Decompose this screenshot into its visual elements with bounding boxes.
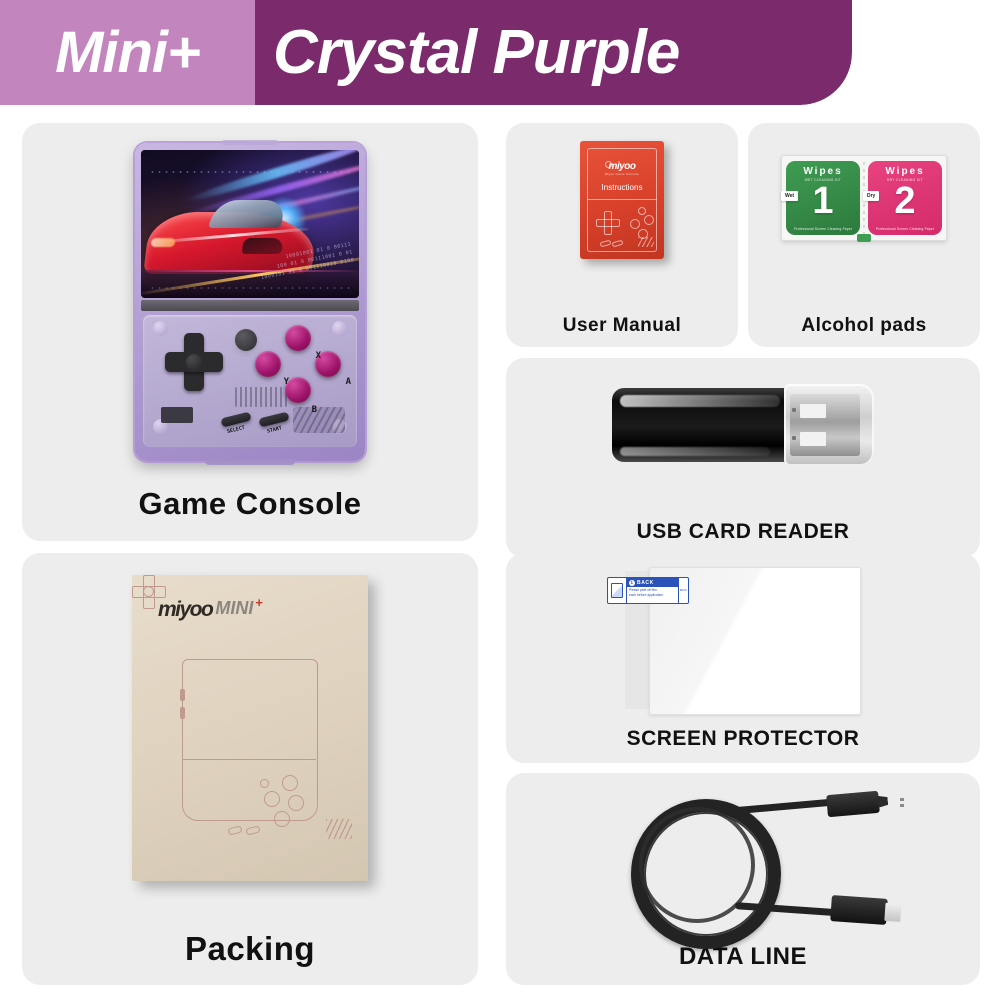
- pcb-chip: [161, 407, 193, 423]
- banner-right-block: Crystal Purple: [255, 0, 852, 105]
- card-screen-protector[interactable]: 1 BACK Please peel off film each before …: [506, 553, 980, 763]
- sachet-wet-tab: Wet: [781, 191, 798, 201]
- peel-step-number: 1: [629, 580, 635, 586]
- speaker-grille: [293, 407, 345, 433]
- product-contents-grid: 10001001 01 0 00111 100 01 0 00111001 0 …: [0, 105, 1000, 1000]
- protector-peel-tag: 1 BACK Please peel off film each before …: [607, 577, 689, 604]
- sachet-dry-number: 2: [894, 184, 915, 219]
- card-user-manual[interactable]: miyoo Miyoo Game Console Instructions Us…: [506, 123, 738, 347]
- usb-contact-slot-1: [800, 404, 826, 418]
- packing-side-button-1: [180, 689, 185, 701]
- select-button[interactable]: [220, 412, 251, 428]
- button-y[interactable]: [255, 351, 281, 377]
- pcb-traces: [235, 387, 287, 407]
- console-top-nub: [222, 140, 278, 145]
- usb-pin-1: [792, 408, 796, 412]
- label-usb-card-reader: USB CARD READER: [506, 521, 980, 542]
- packing-select-outline: [227, 825, 242, 835]
- manual-speaker-outline: [638, 237, 654, 247]
- sachet-wet-footer: Professional Screen Cleaning Paper: [786, 227, 860, 231]
- data-line-cable: [593, 791, 893, 931]
- dpad-center: [186, 354, 202, 370]
- header-banner: Mini+ Crystal Purple: [0, 0, 852, 105]
- usb-gloss-top: [620, 395, 780, 407]
- console-screen: 10001001 01 0 00111 100 01 0 00111001 0 …: [141, 150, 359, 298]
- button-x[interactable]: [285, 325, 311, 351]
- button-y-label: Y: [284, 377, 289, 387]
- manual-button-outline-2: [644, 215, 654, 225]
- screen-dot-row-top: [149, 170, 351, 174]
- banner-left-block: Mini+: [0, 0, 255, 105]
- peel-tag-body: 1 BACK Please peel off film each before …: [627, 578, 678, 603]
- banner-model-text: Mini+: [55, 24, 200, 82]
- user-manual-booklet: miyoo Miyoo Game Console Instructions: [580, 141, 664, 259]
- button-b-label: B: [312, 405, 317, 415]
- manual-stick-outline: [605, 161, 612, 168]
- cable-lead-top: [735, 799, 831, 814]
- sachet-dry-tab: Dry: [863, 191, 879, 201]
- peel-tag-heading-text: BACK: [637, 580, 654, 586]
- analog-stick[interactable]: [235, 329, 257, 351]
- card-packing[interactable]: miyoo MINI + Packing: [22, 553, 478, 985]
- packing-button-outline-y: [264, 791, 280, 807]
- packing-screen-divider: [182, 759, 316, 760]
- label-game-console: Game Console: [22, 488, 478, 519]
- packing-button-outline-x: [282, 775, 298, 791]
- label-alcohol-pads: Alcohol pads: [748, 316, 980, 335]
- usb-body: [612, 388, 792, 462]
- car-highlight-stripe: [157, 227, 308, 243]
- packing-speaker-outline: [326, 819, 352, 839]
- sachet-dry-title: Wipes: [885, 166, 924, 177]
- manual-button-outline-1: [638, 207, 646, 215]
- manual-title: Instructions: [580, 183, 664, 192]
- start-button-label: START: [266, 425, 282, 434]
- usb-a-contacts: [900, 798, 904, 810]
- manual-divider: [587, 199, 657, 200]
- console-bottom-edge: [205, 459, 295, 465]
- select-button-label: SELECT: [227, 425, 246, 435]
- screw-top-right: [332, 321, 347, 336]
- label-screen-protector: SCREEN PROTECTOR: [506, 728, 980, 749]
- label-packing: Packing: [22, 932, 478, 965]
- peel-tag-heading: 1 BACK: [627, 578, 678, 587]
- screen-dot-row-bottom: [149, 286, 351, 290]
- manual-button-outline-3: [630, 219, 640, 229]
- packing-brand-plus: +: [255, 596, 263, 609]
- card-game-console[interactable]: 10001001 01 0 00111 100 01 0 00111001 0 …: [22, 123, 478, 541]
- packing-button-outline-b: [274, 811, 290, 827]
- console-control-face: X Y A B SELECT START: [143, 315, 357, 447]
- sachet-dry-footer: Professional Screen Cleaning Paper: [868, 227, 942, 231]
- packing-dpad-center: [143, 586, 154, 597]
- car-headlight: [151, 238, 176, 247]
- card-alcohol-pads[interactable]: Wipes WET CLEANING KIT 1 Professional Sc…: [748, 123, 980, 347]
- peel-instruction-line-2: each before application: [629, 593, 676, 598]
- sachet-wet: Wipes WET CLEANING KIT 1 Professional Sc…: [786, 161, 860, 235]
- micro-usb-connector: [826, 791, 880, 817]
- usb-a-connector: [830, 895, 888, 925]
- label-user-manual: User Manual: [506, 316, 738, 335]
- manual-brand-logo: miyoo: [580, 161, 664, 172]
- sachet-dry: Wipes DRY CLEANING KIT 2 Professional Sc…: [868, 161, 942, 235]
- sachet-dry-subtitle: DRY CLEANING KIT: [887, 178, 923, 182]
- usb-contact-slot-2: [800, 432, 826, 446]
- packing-brand-logo: miyoo MINI +: [158, 599, 263, 620]
- sachet-wet-number: 1: [812, 184, 833, 219]
- dpad[interactable]: [165, 333, 223, 391]
- usb-gloss-bottom: [620, 447, 770, 456]
- card-usb-card-reader[interactable]: USB CARD READER: [506, 358, 980, 558]
- button-a-label: A: [346, 377, 351, 387]
- manual-brand-subtitle: Miyoo Game Console: [580, 172, 664, 176]
- peel-film-icon: [608, 578, 627, 603]
- card-data-line[interactable]: DATA LINE: [506, 773, 980, 985]
- game-console-device: 10001001 01 0 00111 100 01 0 00111001 0 …: [135, 143, 365, 461]
- manual-dpad-outline: [596, 211, 620, 235]
- usb-pin-2: [792, 436, 796, 440]
- packing-stick-outline: [260, 779, 269, 788]
- packing-brand-miyoo: miyoo: [158, 599, 212, 620]
- peel-tag-instructions: Please peel off film each before applica…: [627, 587, 678, 598]
- packing-box: miyoo MINI +: [132, 575, 368, 881]
- packing-brand-mini: MINI: [215, 599, 253, 617]
- banner-color-text: Crystal Purple: [273, 22, 679, 84]
- start-button[interactable]: [258, 412, 289, 428]
- button-x-label: X: [316, 351, 321, 361]
- console-hinge: [141, 300, 359, 311]
- label-data-line: DATA LINE: [506, 945, 980, 969]
- sachet-wet-title: Wipes: [803, 166, 842, 177]
- packing-side-button-2: [180, 707, 185, 719]
- sachet-wet-subtitle: WET CLEANING KIT: [805, 178, 841, 182]
- screen-protector-device: 1 BACK Please peel off film each before …: [625, 567, 861, 713]
- pads-notch: [857, 234, 871, 242]
- car-side-vent: [242, 238, 284, 254]
- usb-card-reader-device: [612, 384, 874, 466]
- alcohol-pads-pack: Wipes WET CLEANING KIT 1 Professional Sc…: [781, 155, 947, 241]
- peel-tag-side-text: BACK: [678, 578, 688, 603]
- packing-button-outline-a: [288, 795, 304, 811]
- packing-start-outline: [245, 825, 260, 835]
